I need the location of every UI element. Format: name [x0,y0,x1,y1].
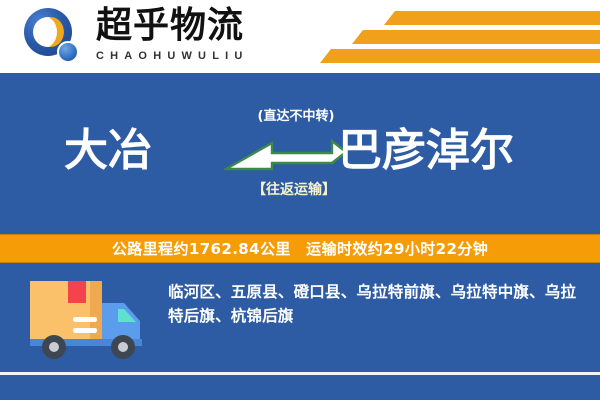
stripe-1 [384,11,600,25]
orange-speed-stripes-icon [270,8,600,68]
road-divider-line [0,372,600,375]
coverage-section: 临河区、五原县、磴口县、乌拉特前旗、乌拉特中旗、乌拉特后旗、杭锦后旗 [0,263,600,400]
distance-and-duration-text: 公路里程约1762.84公里 运输时效约29小时22分钟 [112,238,488,259]
origin-city-name: 大冶 [64,123,152,179]
brand-name-cn: 超乎物流 [96,6,249,46]
direct-service-note: (直达不中转) [236,105,356,124]
destination-city-name: 巴彦淖尔 [338,123,514,179]
brand-block: 超乎物流 CHAOHUWULIU [96,6,249,64]
route-info-bar: 公路里程约1762.84公里 运输时效约29小时22分钟 [0,234,600,263]
brand-name-en: CHAOHUWULIU [96,48,249,64]
double-headed-arrow-icon [224,133,348,177]
stripe-3 [320,49,600,63]
round-trip-note: 【往返运输】 [234,179,354,199]
coverage-areas-text: 临河区、五原县、磴口县、乌拉特前旗、乌拉特中旗、乌拉特后旗、杭锦后旗 [168,280,580,328]
stripe-2 [352,30,600,44]
banner-header: 超乎物流 CHAOHUWULIU [0,0,600,73]
route-section: 大冶 (直达不中转) 【往返运输】 巴彦淖尔 [0,73,600,233]
chaohu-circle-logo-icon [24,8,82,66]
route-arrow-group: (直达不中转) 【往返运输】 [220,105,350,215]
logo-accent-dot [57,41,79,63]
logistics-route-banner: 超乎物流 CHAOHUWULIU 大冶 (直达不中转) 【往返运输】 巴彦淖尔 … [0,0,600,400]
delivery-truck-icon [28,273,148,365]
